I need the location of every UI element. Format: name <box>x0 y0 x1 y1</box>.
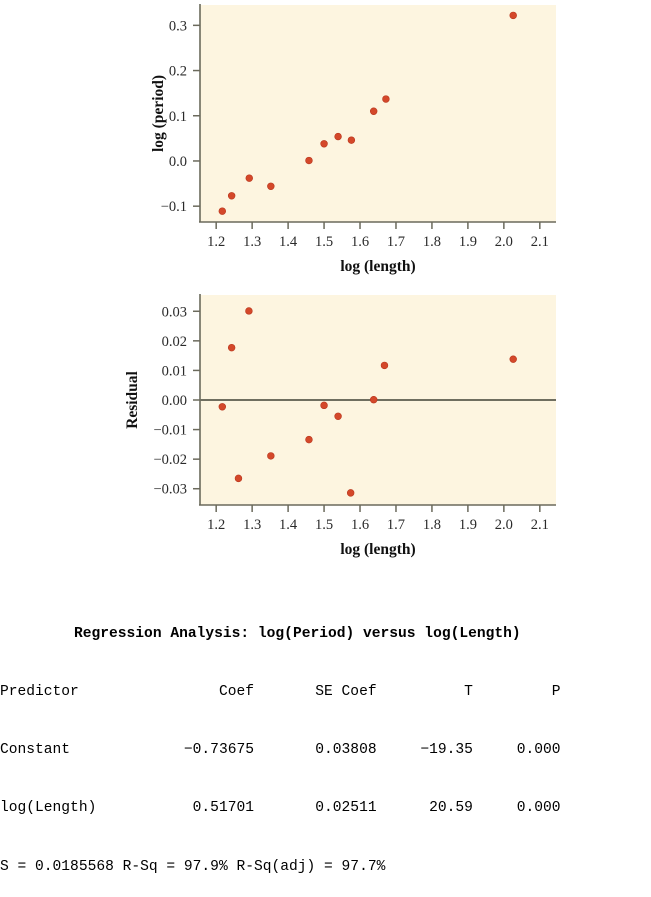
y-tick-label-period-0: −0.1 <box>161 199 187 215</box>
regression-title: Regression Analysis: log(Period) versus … <box>0 625 651 644</box>
data-point-residual <box>381 362 388 369</box>
x-axis-label-period: log (length) <box>340 258 415 275</box>
regression-row-loglength: log(Length) 0.51701 0.02511 20.59 0.000 <box>0 799 651 818</box>
x-tick-label-residual-7: 1.9 <box>459 517 477 533</box>
data-point-period <box>246 175 253 182</box>
data-point-residual <box>228 344 235 351</box>
x-tick-label-period-1: 1.3 <box>243 234 261 250</box>
x-tick-label-period-2: 1.4 <box>279 234 298 250</box>
data-point-period <box>335 133 342 140</box>
data-point-period <box>370 108 377 115</box>
regression-row-constant: Constant −0.73675 0.03808 −19.35 0.000 <box>0 741 651 760</box>
data-point-residual <box>335 413 342 420</box>
data-point-residual <box>246 308 253 315</box>
data-point-period <box>219 208 226 215</box>
data-point-period <box>383 96 390 103</box>
data-point-residual <box>235 475 242 482</box>
x-tick-label-period-4: 1.6 <box>351 234 369 250</box>
data-point-residual <box>306 436 313 443</box>
y-tick-label-residual-5: 0.02 <box>162 334 187 350</box>
charts-svg: 1.21.31.41.51.61.71.81.92.02.1−0.10.00.1… <box>0 0 651 580</box>
x-tick-label-period-3: 1.5 <box>315 234 333 250</box>
x-tick-label-residual-2: 1.4 <box>279 517 298 533</box>
data-point-period <box>228 192 235 199</box>
y-axis-label-period: log (period) <box>150 75 167 152</box>
x-tick-label-residual-6: 1.8 <box>423 517 441 533</box>
data-point-residual <box>267 453 274 460</box>
x-tick-label-period-5: 1.7 <box>387 234 405 250</box>
data-point-residual <box>370 396 377 403</box>
data-point-period <box>306 157 313 164</box>
data-point-residual <box>321 402 328 409</box>
data-point-period <box>321 140 328 147</box>
x-tick-label-residual-3: 1.5 <box>315 517 333 533</box>
x-tick-label-period-0: 1.2 <box>207 234 225 250</box>
x-axis-label-residual: log (length) <box>340 541 415 558</box>
x-tick-label-period-9: 2.1 <box>531 234 549 250</box>
regression-summary: S = 0.0185568 R-Sq = 97.9% R-Sq(adj) = 9… <box>0 858 651 877</box>
data-point-residual <box>347 489 354 496</box>
y-tick-label-period-3: 0.2 <box>169 64 187 80</box>
chart-panel-period: 1.21.31.41.51.61.71.81.92.02.1−0.10.00.1… <box>150 4 556 275</box>
y-tick-label-residual-3: 0.00 <box>162 393 187 409</box>
x-tick-label-residual-5: 1.7 <box>387 517 405 533</box>
x-tick-label-period-7: 1.9 <box>459 234 477 250</box>
y-tick-label-residual-2: −0.01 <box>153 423 187 439</box>
chart-panel-residual: 1.21.31.41.51.61.71.81.92.02.1−0.03−0.02… <box>124 294 556 558</box>
x-tick-label-residual-1: 1.3 <box>243 517 261 533</box>
y-tick-label-residual-0: −0.03 <box>153 482 187 498</box>
x-tick-label-period-6: 1.8 <box>423 234 441 250</box>
y-tick-label-period-2: 0.1 <box>169 109 187 125</box>
x-tick-label-residual-8: 2.0 <box>495 517 513 533</box>
x-tick-label-residual-4: 1.6 <box>351 517 369 533</box>
data-point-period <box>348 137 355 144</box>
y-tick-label-period-1: 0.0 <box>169 154 187 170</box>
y-tick-label-residual-1: −0.02 <box>153 452 187 468</box>
data-point-period <box>267 183 274 190</box>
data-point-residual <box>510 356 517 363</box>
x-tick-label-period-8: 2.0 <box>495 234 513 250</box>
regression-header: Predictor Coef SE Coef T P <box>0 683 651 702</box>
y-axis-label-residual: Residual <box>124 370 141 428</box>
x-tick-label-residual-9: 2.1 <box>531 517 549 533</box>
y-tick-label-residual-4: 0.01 <box>162 363 187 379</box>
data-point-residual <box>219 403 226 410</box>
y-tick-label-residual-6: 0.03 <box>162 304 187 320</box>
data-point-period <box>510 12 517 19</box>
regression-output-block: Regression Analysis: log(Period) versus … <box>0 586 651 897</box>
x-tick-label-residual-0: 1.2 <box>207 517 225 533</box>
plot-area-period <box>200 5 556 222</box>
y-tick-label-period-4: 0.3 <box>169 18 187 34</box>
